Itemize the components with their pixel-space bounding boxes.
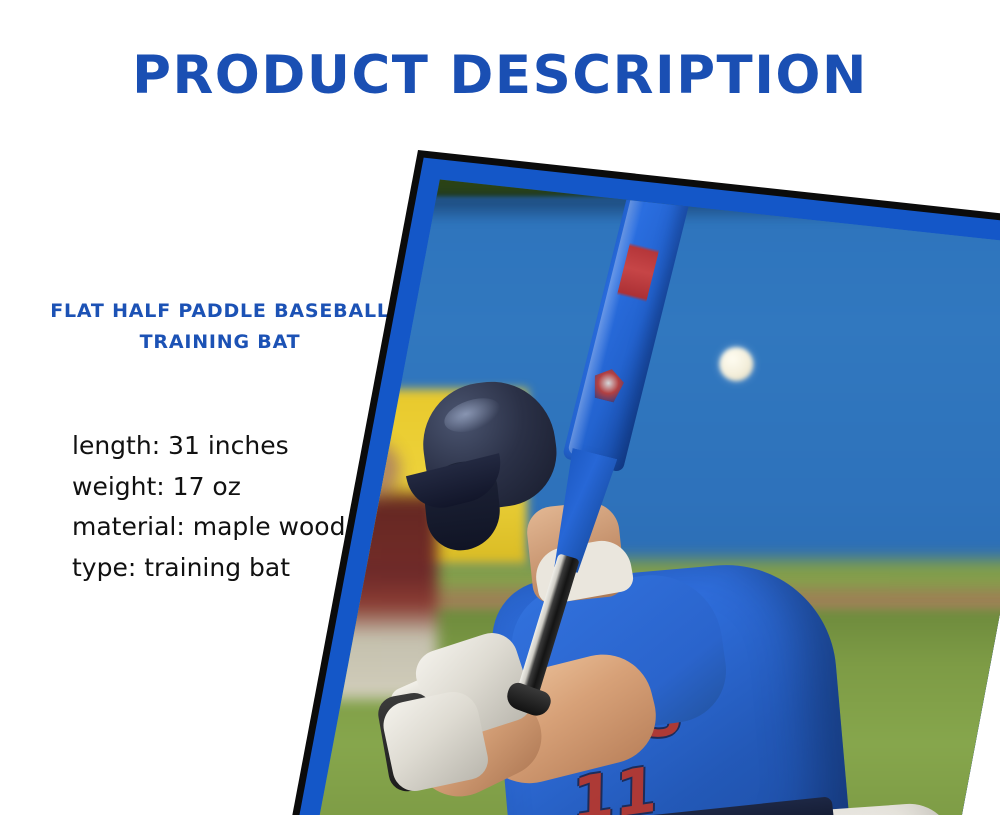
bat-taper bbox=[544, 448, 618, 576]
page-title: PRODUCT DESCRIPTION bbox=[0, 48, 1000, 104]
product-name-line-1: FLAT HALF PADDLE BASEBALL bbox=[30, 296, 410, 327]
product-photo-frame: UINS 11 bbox=[288, 150, 1000, 815]
photo-scene: UINS 11 bbox=[314, 180, 1000, 815]
product-description-page: PRODUCT DESCRIPTION FLAT HALF PADDLE BAS… bbox=[0, 0, 1000, 815]
photo-frame-inner-border: UINS 11 bbox=[295, 158, 1000, 815]
product-photo: UINS 11 bbox=[314, 180, 1000, 815]
batter: UINS 11 bbox=[417, 344, 977, 815]
bat-handle bbox=[515, 553, 580, 703]
product-name-line-2: TRAINING BAT bbox=[30, 327, 410, 358]
product-name: FLAT HALF PADDLE BASEBALL TRAINING BAT bbox=[30, 296, 410, 359]
